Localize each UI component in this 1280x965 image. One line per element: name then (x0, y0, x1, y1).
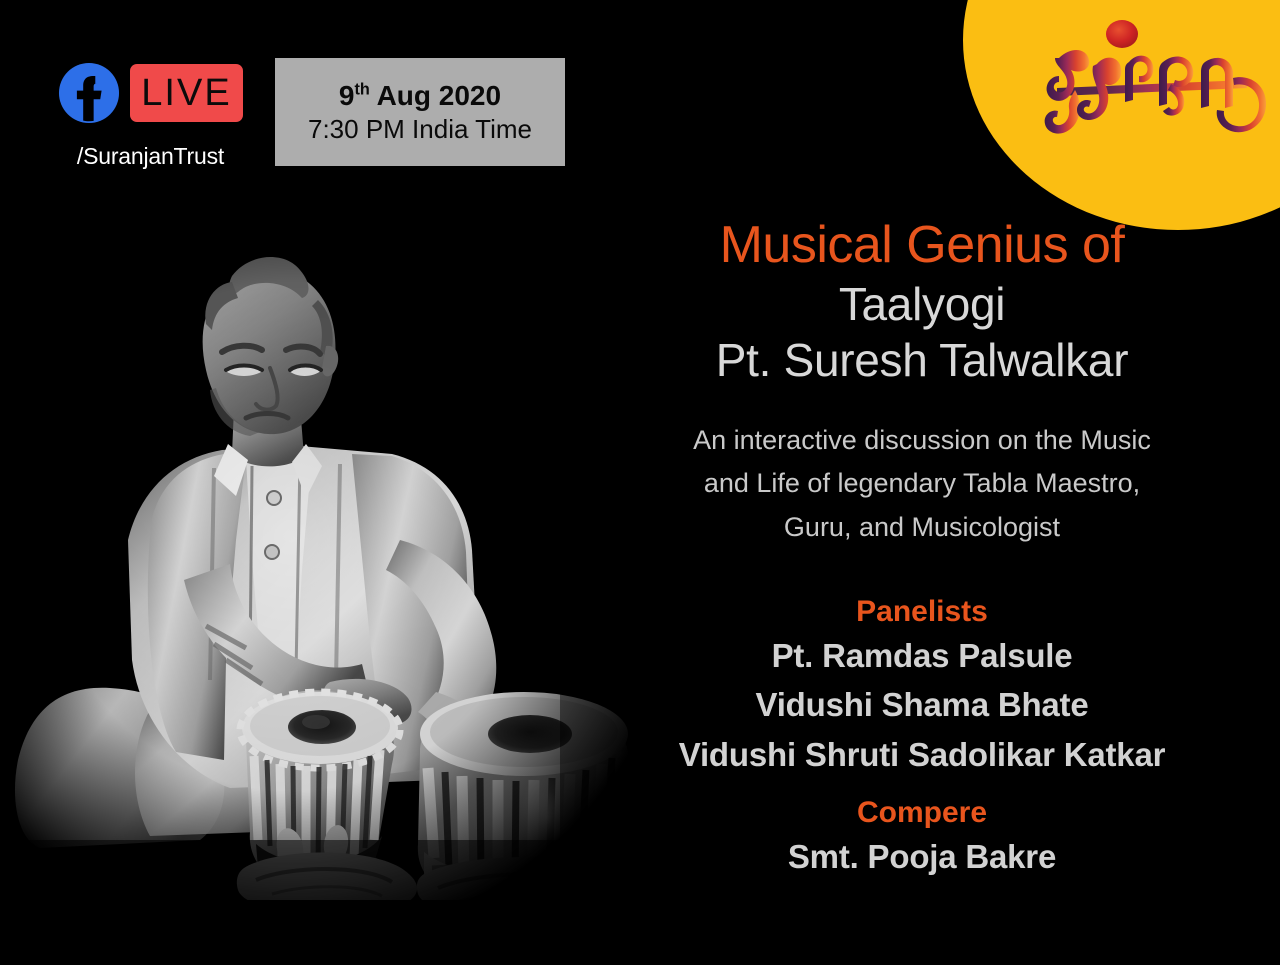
panelist-name: Pt. Ramdas Palsule (622, 631, 1222, 681)
description-line-3: Guru, and Musicologist (622, 506, 1222, 550)
facebook-handle[interactable]: /SuranjanTrust (58, 143, 243, 170)
event-day: 9 (339, 80, 355, 111)
event-description: An interactive discussion on the Music a… (622, 419, 1222, 550)
description-line-1: An interactive discussion on the Music (622, 419, 1222, 463)
compere-name: Smt. Pooja Bakre (622, 832, 1222, 882)
live-label: LIVE (141, 74, 231, 112)
event-time: 7:30 PM India Time (308, 115, 532, 144)
description-line-2: and Life of legendary Tabla Maestro, (622, 462, 1222, 506)
panelists-heading: Panelists (622, 592, 1222, 631)
tabla-maestro-photo (0, 240, 645, 900)
panelists-section: Panelists Pt. Ramdas Palsule Vidushi Sha… (622, 592, 1222, 780)
event-date: 9th Aug 2020 (339, 81, 501, 112)
datetime-box: 9th Aug 2020 7:30 PM India Time (275, 58, 565, 166)
compere-section: Compere Smt. Pooja Bakre (622, 793, 1222, 882)
event-content: Musical Genius of Taalyogi Pt. Suresh Ta… (622, 215, 1222, 882)
event-month-year: Aug 2020 (377, 80, 502, 111)
live-badge[interactable]: LIVE (130, 64, 243, 122)
panelist-name: Vidushi Shama Bhate (622, 680, 1222, 730)
panelist-name: Vidushi Shruti Sadolikar Katkar (622, 730, 1222, 780)
title-line-honorific: Taalyogi (622, 276, 1222, 332)
compere-heading: Compere (622, 793, 1222, 832)
event-day-suffix: th (355, 80, 370, 98)
suranjan-logo (1025, 18, 1275, 148)
facebook-icon[interactable] (58, 62, 120, 124)
title-line-name: Pt. Suresh Talwalkar (622, 332, 1222, 388)
logo-dot (1106, 20, 1138, 48)
title-line-accent: Musical Genius of (622, 215, 1222, 276)
facebook-live-group[interactable]: LIVE (58, 62, 243, 124)
